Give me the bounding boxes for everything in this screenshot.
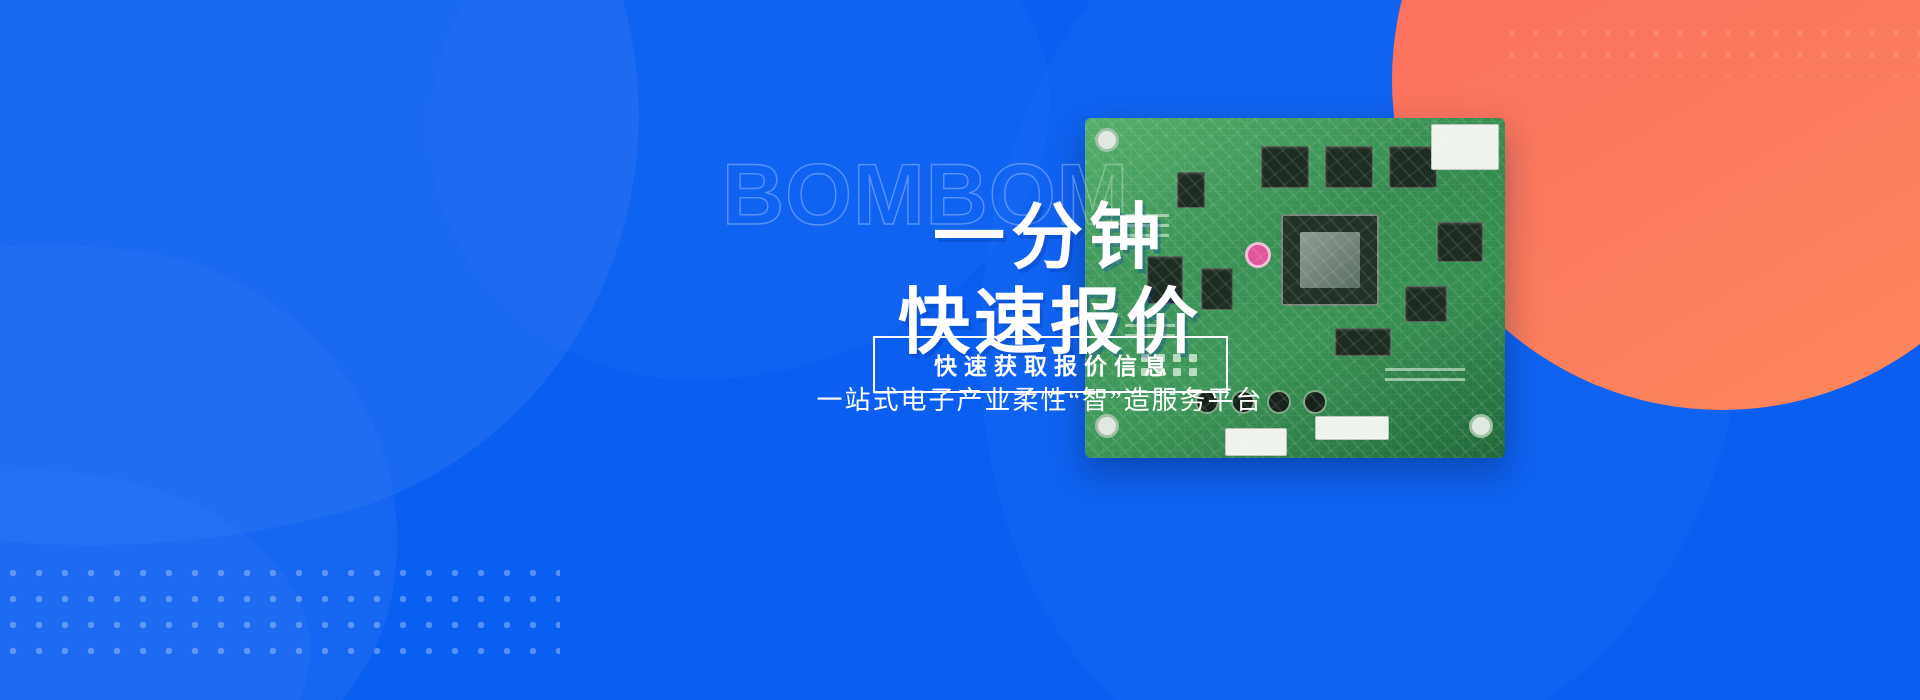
banner-content: BOMBOM 一分钟 快速报价 快速获取报价信息 一站式电子产业柔性“智”造服务… [690,0,1390,700]
dot-grid-top-right [1500,22,1920,76]
promo-banner: BOMBOM 一分钟 快速报价 快速获取报价信息 一站式电子产业柔性“智”造服务… [0,0,1920,700]
headline-line-1: 一分钟 [750,196,1350,281]
tagline-text: 一站式电子产业柔性“智”造服务平台 [690,380,1390,417]
get-quote-button-label: 快速获取报价信息 [927,353,1174,379]
dot-grid-bottom-left [0,560,560,670]
